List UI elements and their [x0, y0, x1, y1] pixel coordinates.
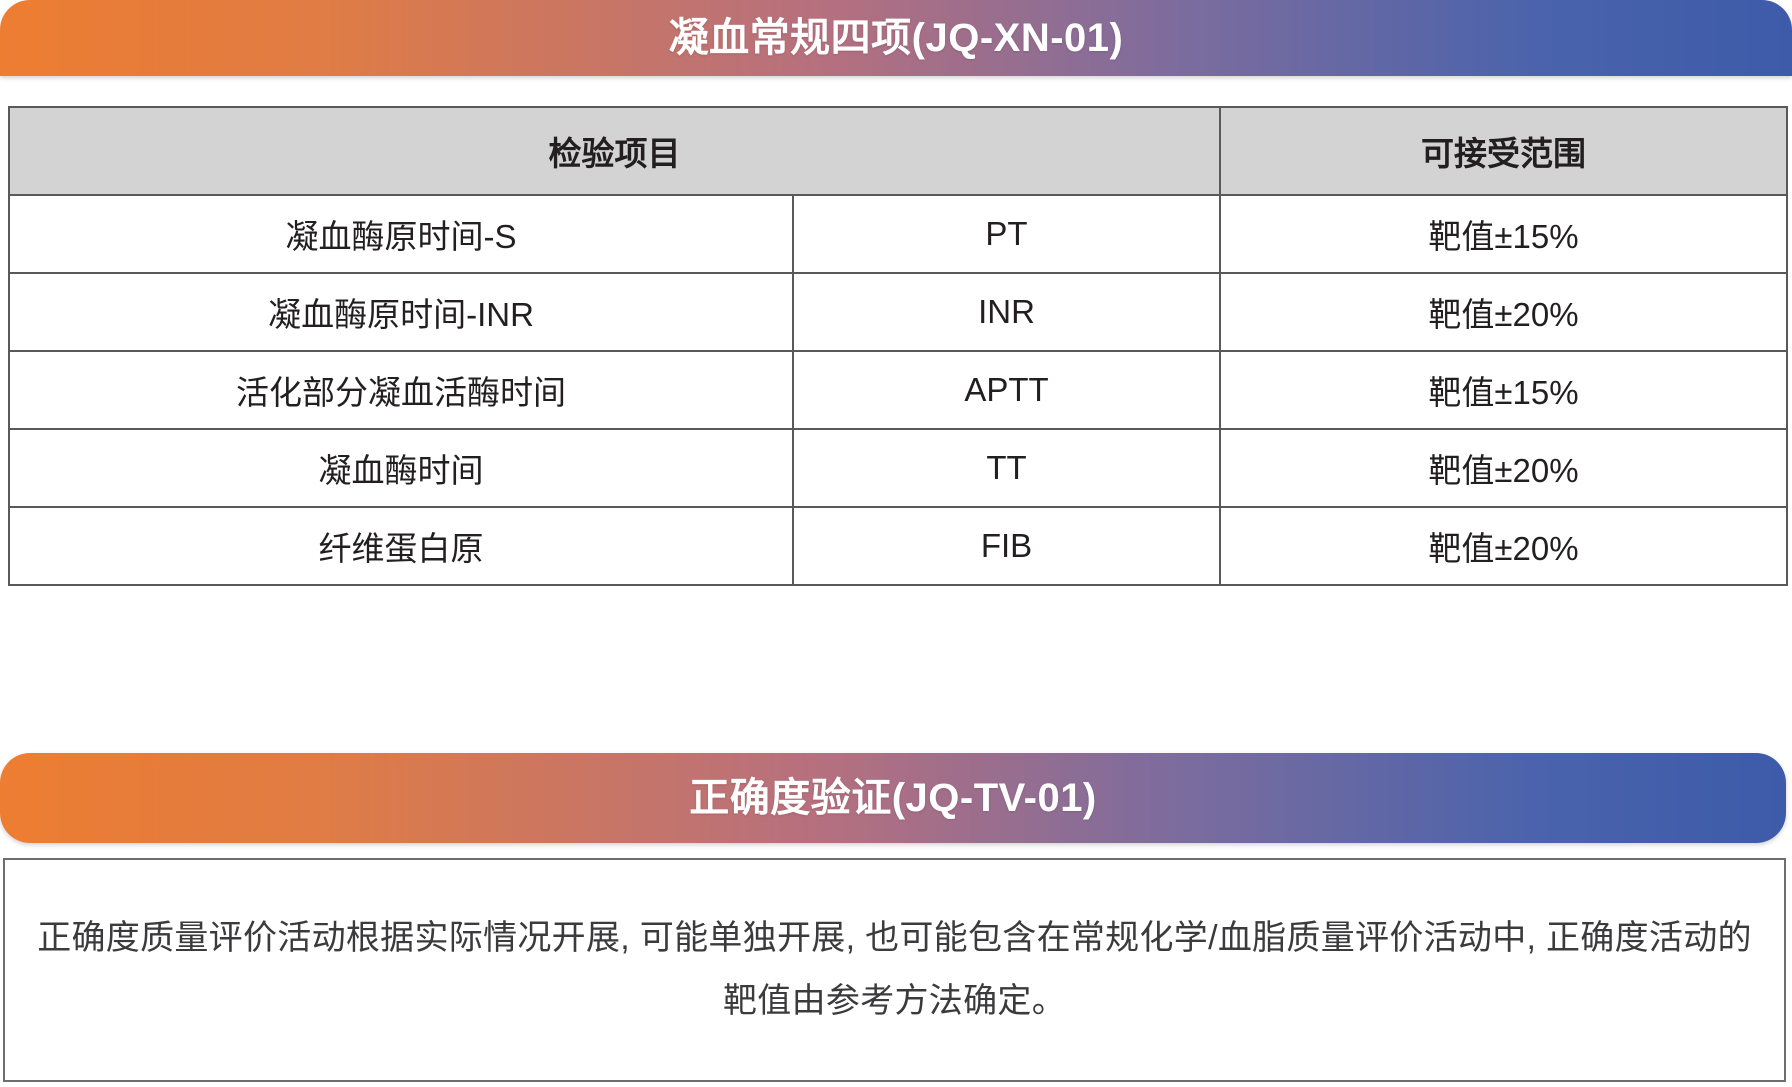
cell-test-name: 纤维蛋白原: [9, 507, 793, 585]
coagulation-table: 检验项目 可接受范围 凝血酶原时间-S PT 靶值±15% 凝血酶原时间-INR…: [8, 106, 1788, 586]
cell-test-range: 靶值±20%: [1220, 273, 1787, 351]
cell-test-name: 凝血酶原时间-S: [9, 195, 793, 273]
section-banner-coagulation: 凝血常规四项(JQ-XN-01): [0, 0, 1792, 76]
cell-test-range: 靶值±20%: [1220, 507, 1787, 585]
table-header-row: 检验项目 可接受范围: [9, 107, 1787, 195]
cell-test-name: 凝血酶原时间-INR: [9, 273, 793, 351]
cell-test-range: 靶值±15%: [1220, 195, 1787, 273]
cell-test-abbr: APTT: [793, 351, 1220, 429]
trueness-note-box: 正确度质量评价活动根据实际情况开展, 可能单独开展, 也可能包含在常规化学/血脂…: [3, 858, 1786, 1082]
table-row: 凝血酶时间 TT 靶值±20%: [9, 429, 1787, 507]
cell-test-abbr: FIB: [793, 507, 1220, 585]
cell-test-abbr: PT: [793, 195, 1220, 273]
coagulation-table-container: 检验项目 可接受范围 凝血酶原时间-S PT 靶值±15% 凝血酶原时间-INR…: [8, 106, 1786, 586]
table-body: 凝血酶原时间-S PT 靶值±15% 凝血酶原时间-INR INR 靶值±20%…: [9, 195, 1787, 585]
section-title-trueness: 正确度验证(JQ-TV-01): [689, 778, 1097, 818]
poster-page: 凝血常规四项(JQ-XN-01) 检验项目 可接受范围 凝血酶原时间-S PT …: [0, 0, 1792, 1087]
section-banner-trueness: 正确度验证(JQ-TV-01): [0, 753, 1786, 843]
cell-test-abbr: INR: [793, 273, 1220, 351]
cell-test-range: 靶值±20%: [1220, 429, 1787, 507]
cell-test-range: 靶值±15%: [1220, 351, 1787, 429]
section-title-coagulation: 凝血常规四项(JQ-XN-01): [669, 18, 1124, 58]
table-header: 检验项目 可接受范围: [9, 107, 1787, 195]
cell-test-abbr: TT: [793, 429, 1220, 507]
column-header-test-item: 检验项目: [9, 107, 1220, 195]
trueness-note-text: 正确度质量评价活动根据实际情况开展, 可能单独开展, 也可能包含在常规化学/血脂…: [31, 907, 1758, 1033]
table-row: 活化部分凝血活酶时间 APTT 靶值±15%: [9, 351, 1787, 429]
table-row: 纤维蛋白原 FIB 靶值±20%: [9, 507, 1787, 585]
table-row: 凝血酶原时间-INR INR 靶值±20%: [9, 273, 1787, 351]
table-row: 凝血酶原时间-S PT 靶值±15%: [9, 195, 1787, 273]
cell-test-name: 凝血酶时间: [9, 429, 793, 507]
column-header-acceptable-range: 可接受范围: [1220, 107, 1787, 195]
cell-test-name: 活化部分凝血活酶时间: [9, 351, 793, 429]
